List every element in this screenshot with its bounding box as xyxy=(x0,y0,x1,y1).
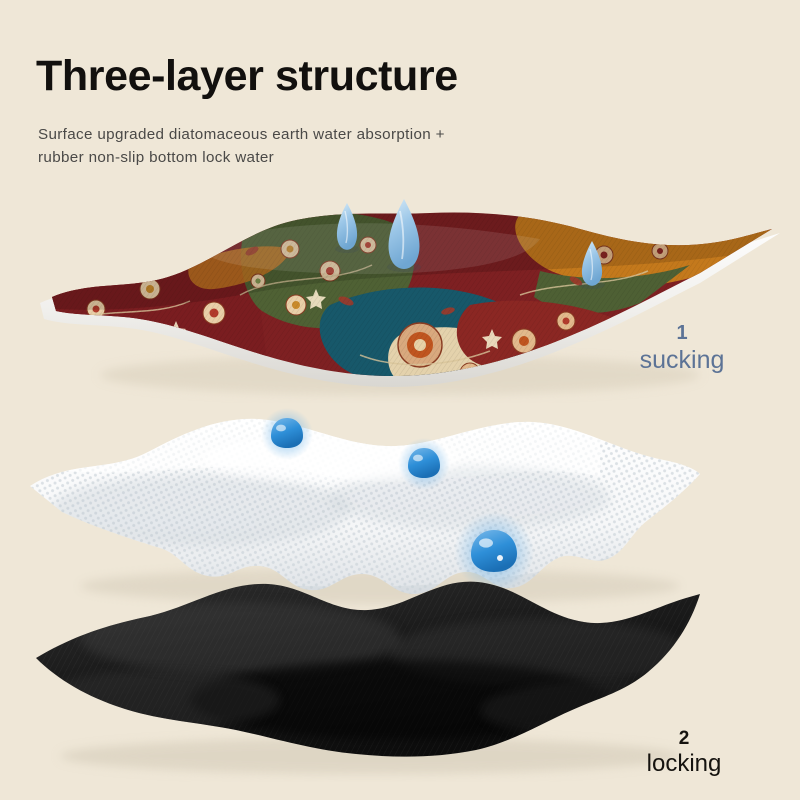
water-bead xyxy=(261,408,313,460)
page-title: Three-layer structure xyxy=(36,55,656,98)
layer-top-carpet xyxy=(0,185,800,420)
callout-sucking: 1 sucking xyxy=(612,322,752,375)
water-droplet xyxy=(387,199,421,272)
callout-locking-number: 2 xyxy=(614,728,754,750)
callout-locking-caption: locking xyxy=(614,750,754,778)
rubber-highlight-lower-left xyxy=(40,670,280,730)
infographic-canvas: Three-layer structure Surface upgraded d… xyxy=(0,0,800,800)
water-bead xyxy=(398,438,450,490)
callout-locking: 2 locking xyxy=(614,728,754,779)
callout-sucking-number: 1 xyxy=(612,322,752,346)
page-subtitle: Surface upgraded diatomaceous earth wate… xyxy=(38,124,468,169)
mesh-valley-shade-left xyxy=(50,474,350,546)
callout-sucking-caption: sucking xyxy=(612,346,752,376)
header: Three-layer structure Surface upgraded d… xyxy=(36,55,656,169)
